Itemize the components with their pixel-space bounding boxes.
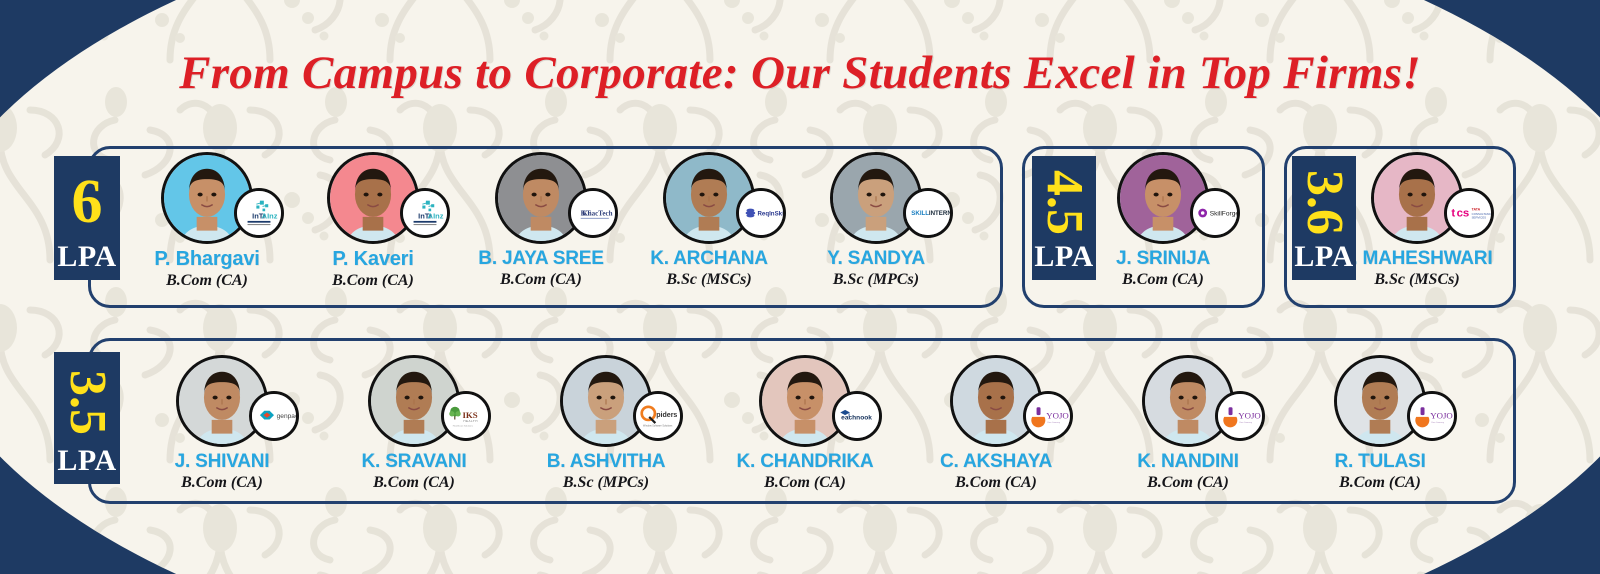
- yojo-logo: YOJO Your Journey: [1215, 391, 1265, 441]
- qspiders-logo: piders Window Software Solutions: [633, 391, 683, 441]
- genpact-logo: genpact: [249, 391, 299, 441]
- student-photo-wrapper: SkillForge: [1117, 152, 1209, 244]
- student-degree: B.Com (CA): [1083, 474, 1293, 492]
- lpa-badge-4-5: 4.5LPA: [1032, 156, 1096, 280]
- student-card: YOJO Your JourneyC. AKSHAYAB.Com (CA): [891, 355, 1101, 492]
- student-name: K. SRAVANI: [309, 451, 519, 473]
- svg-text:genpact: genpact: [277, 413, 296, 420]
- yojo-logo: YOJO Your Journey: [1407, 391, 1457, 441]
- svg-text:YOJO: YOJO: [1238, 411, 1260, 421]
- iks-health-logo: IKS HEALTH Healthcare Solutions: [441, 391, 491, 441]
- lpa-badge-unit: LPA: [57, 446, 116, 476]
- student-photo-wrapper: t c s TATA CONSULTANCYSERVICES: [1371, 152, 1463, 244]
- student-photo-wrapper: IKS HEALTH Healthcare Solutions: [368, 355, 460, 447]
- student-photo-wrapper: YOJO Your Journey: [1142, 355, 1234, 447]
- lpa-badge-number: 4.5: [1038, 162, 1090, 242]
- student-degree: B.Com (CA): [700, 474, 910, 492]
- svg-text:t: t: [1451, 208, 1455, 220]
- lpa-badge-unit: LPA: [1034, 242, 1093, 272]
- student-name: R. TULASI: [1275, 451, 1485, 473]
- yojo-logo: YOJO Your Journey: [1023, 391, 1073, 441]
- svg-text:s: s: [1463, 208, 1469, 220]
- student-photo-wrapper: YOJO Your Journey: [1334, 355, 1426, 447]
- student-photo-wrapper: ReqInSkill: [663, 152, 755, 244]
- svg-text:SKILL: SKILL: [911, 210, 929, 217]
- lpa-badge-number: 3.6: [1298, 162, 1350, 242]
- tcs-logo: t c s TATA CONSULTANCYSERVICES: [1444, 188, 1494, 238]
- lpa-badge-3-5: 3.5LPA: [54, 352, 120, 484]
- svg-text:YOJO: YOJO: [1430, 411, 1452, 421]
- lpa-badge-number: 3.5: [61, 358, 113, 446]
- svg-text:YOJO: YOJO: [1046, 411, 1068, 421]
- student-photo-wrapper: eachnook: [759, 355, 851, 447]
- svg-text:HEALTH: HEALTH: [463, 419, 478, 423]
- student-photo-wrapper: genpact: [176, 355, 268, 447]
- svg-text:INTERN: INTERN: [929, 210, 950, 217]
- student-photo-wrapper: InTr AInz: [327, 152, 419, 244]
- student-name: C. AKSHAYA: [891, 451, 1101, 473]
- student-photo-wrapper: piders Window Software Solutions: [560, 355, 652, 447]
- lpa-badge-6: 6LPA: [54, 156, 120, 280]
- student-degree: B.Com (CA): [309, 474, 519, 492]
- student-name: J. SHIVANI: [117, 451, 327, 473]
- lpa-badge-number: 6: [72, 162, 103, 242]
- svg-text:SERVICES: SERVICES: [1472, 215, 1487, 219]
- svg-text:SkillForge: SkillForge: [1210, 211, 1237, 218]
- student-degree: B.Sc (MPCs): [771, 271, 981, 289]
- lpa-badge-unit: LPA: [57, 242, 116, 272]
- skillforge-logo: SkillForge: [1190, 188, 1240, 238]
- student-photo-wrapper: SKILL INTERN: [830, 152, 922, 244]
- student-photo-wrapper: KT KnacTech: [495, 152, 587, 244]
- student-card: genpactJ. SHIVANIB.Com (CA): [117, 355, 327, 492]
- lpa-badge-3-6: 3.6LPA: [1292, 156, 1356, 280]
- teachnook-logo: eachnook: [832, 391, 882, 441]
- student-card: YOJO Your JourneyR. TULASIB.Com (CA): [1275, 355, 1485, 492]
- svg-text:eachnook: eachnook: [841, 415, 872, 422]
- svg-text:Window Software Solutions: Window Software Solutions: [643, 425, 673, 428]
- page-title: From Campus to Corporate: Our Students E…: [0, 46, 1600, 100]
- student-photo-wrapper: YOJO Your Journey: [950, 355, 1042, 447]
- student-name: K. NANDINI: [1083, 451, 1293, 473]
- svg-text:IKS: IKS: [462, 410, 477, 420]
- student-card: YOJO Your JourneyK. NANDINIB.Com (CA): [1083, 355, 1293, 492]
- student-degree: B.Com (CA): [1275, 474, 1485, 492]
- student-card: eachnookK. CHANDRIKAB.Com (CA): [700, 355, 910, 492]
- student-card: SKILL INTERNY. SANDYAB.Sc (MPCs): [771, 152, 981, 289]
- student-name: K. CHANDRIKA: [700, 451, 910, 473]
- skill-intern-logo: SKILL INTERN: [903, 188, 953, 238]
- student-photo-wrapper: InTr AInz: [161, 152, 253, 244]
- student-degree: B.Com (CA): [117, 474, 327, 492]
- student-degree: B.Com (CA): [891, 474, 1101, 492]
- student-name: Y. SANDYA: [771, 248, 981, 270]
- svg-text:piders: piders: [656, 412, 677, 419]
- student-degree: B.Sc (MPCs): [501, 474, 711, 492]
- student-card: piders Window Software SolutionsB. ASHVI…: [501, 355, 711, 492]
- student-card: IKS HEALTH Healthcare SolutionsK. SRAVAN…: [309, 355, 519, 492]
- student-name: B. ASHVITHA: [501, 451, 711, 473]
- svg-text:TATA: TATA: [1472, 207, 1481, 211]
- lpa-badge-unit: LPA: [1294, 242, 1353, 272]
